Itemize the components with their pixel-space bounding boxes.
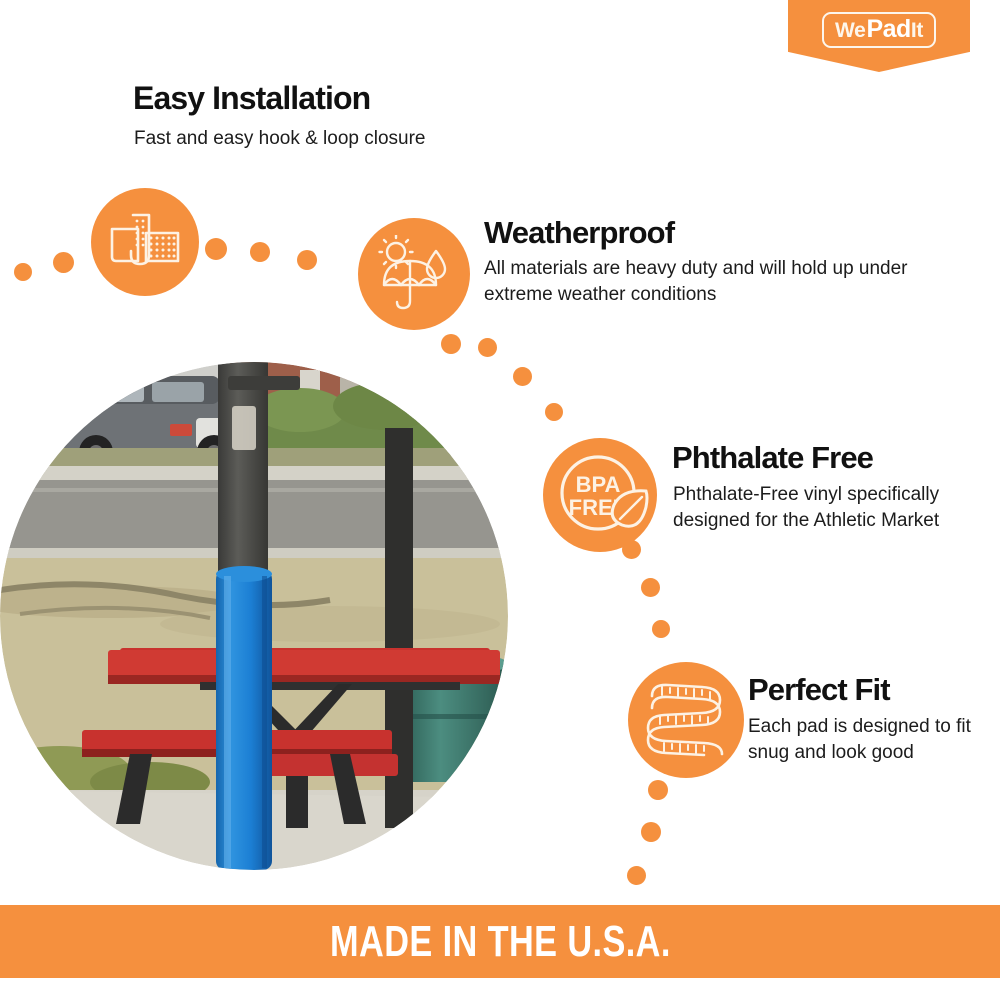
trail-dot [297,250,317,270]
feature-body-phthalate-free: Phthalate-Free vinyl specifically design… [673,482,943,534]
umbrella-sun-raindrop-icon [358,218,470,330]
trail-dot [648,780,668,800]
trail-dot [441,334,461,354]
brand-logo-frame: We Pad It [822,12,936,48]
trail-dot [545,403,563,421]
feature-body-perfect-fit: Each pad is designed to fit snug and loo… [748,714,980,766]
trail-dot [53,252,74,273]
logo-text-it: It [911,20,923,41]
infographic-page: We Pad It Easy Installation Fast and eas… [0,0,1000,987]
trail-dot [627,866,646,885]
trail-dot [14,263,32,281]
trail-dot [250,242,270,262]
bpa-label-line1: BPA [576,472,621,497]
bpa-free-leaf-icon: BPA FREE [543,438,657,552]
made-in-usa-banner: MADE IN THE U.S.A. [0,905,1000,978]
made-in-usa-text: MADE IN THE U.S.A. [330,917,671,967]
trail-dot [652,620,670,638]
feature-title-phthalate-free: Phthalate Free [672,440,873,476]
trail-dot [641,578,660,597]
feature-title-easy-installation: Easy Installation [133,80,370,117]
feature-title-weatherproof: Weatherproof [484,215,674,251]
trail-dot [205,238,227,260]
product-photo [0,362,508,870]
hook-and-loop-icon [91,188,199,296]
feature-title-perfect-fit: Perfect Fit [748,672,890,708]
trail-dot [513,367,532,386]
logo-text-we: We [835,20,866,41]
trail-dot [478,338,497,357]
measuring-tape-icon [628,662,744,778]
brand-logo-banner: We Pad It [788,0,970,72]
feature-body-weatherproof: All materials are heavy duty and will ho… [484,256,914,308]
trail-dot [641,822,661,842]
logo-text-pad: Pad [866,17,910,42]
feature-body-easy-installation: Fast and easy hook & loop closure [134,126,554,152]
